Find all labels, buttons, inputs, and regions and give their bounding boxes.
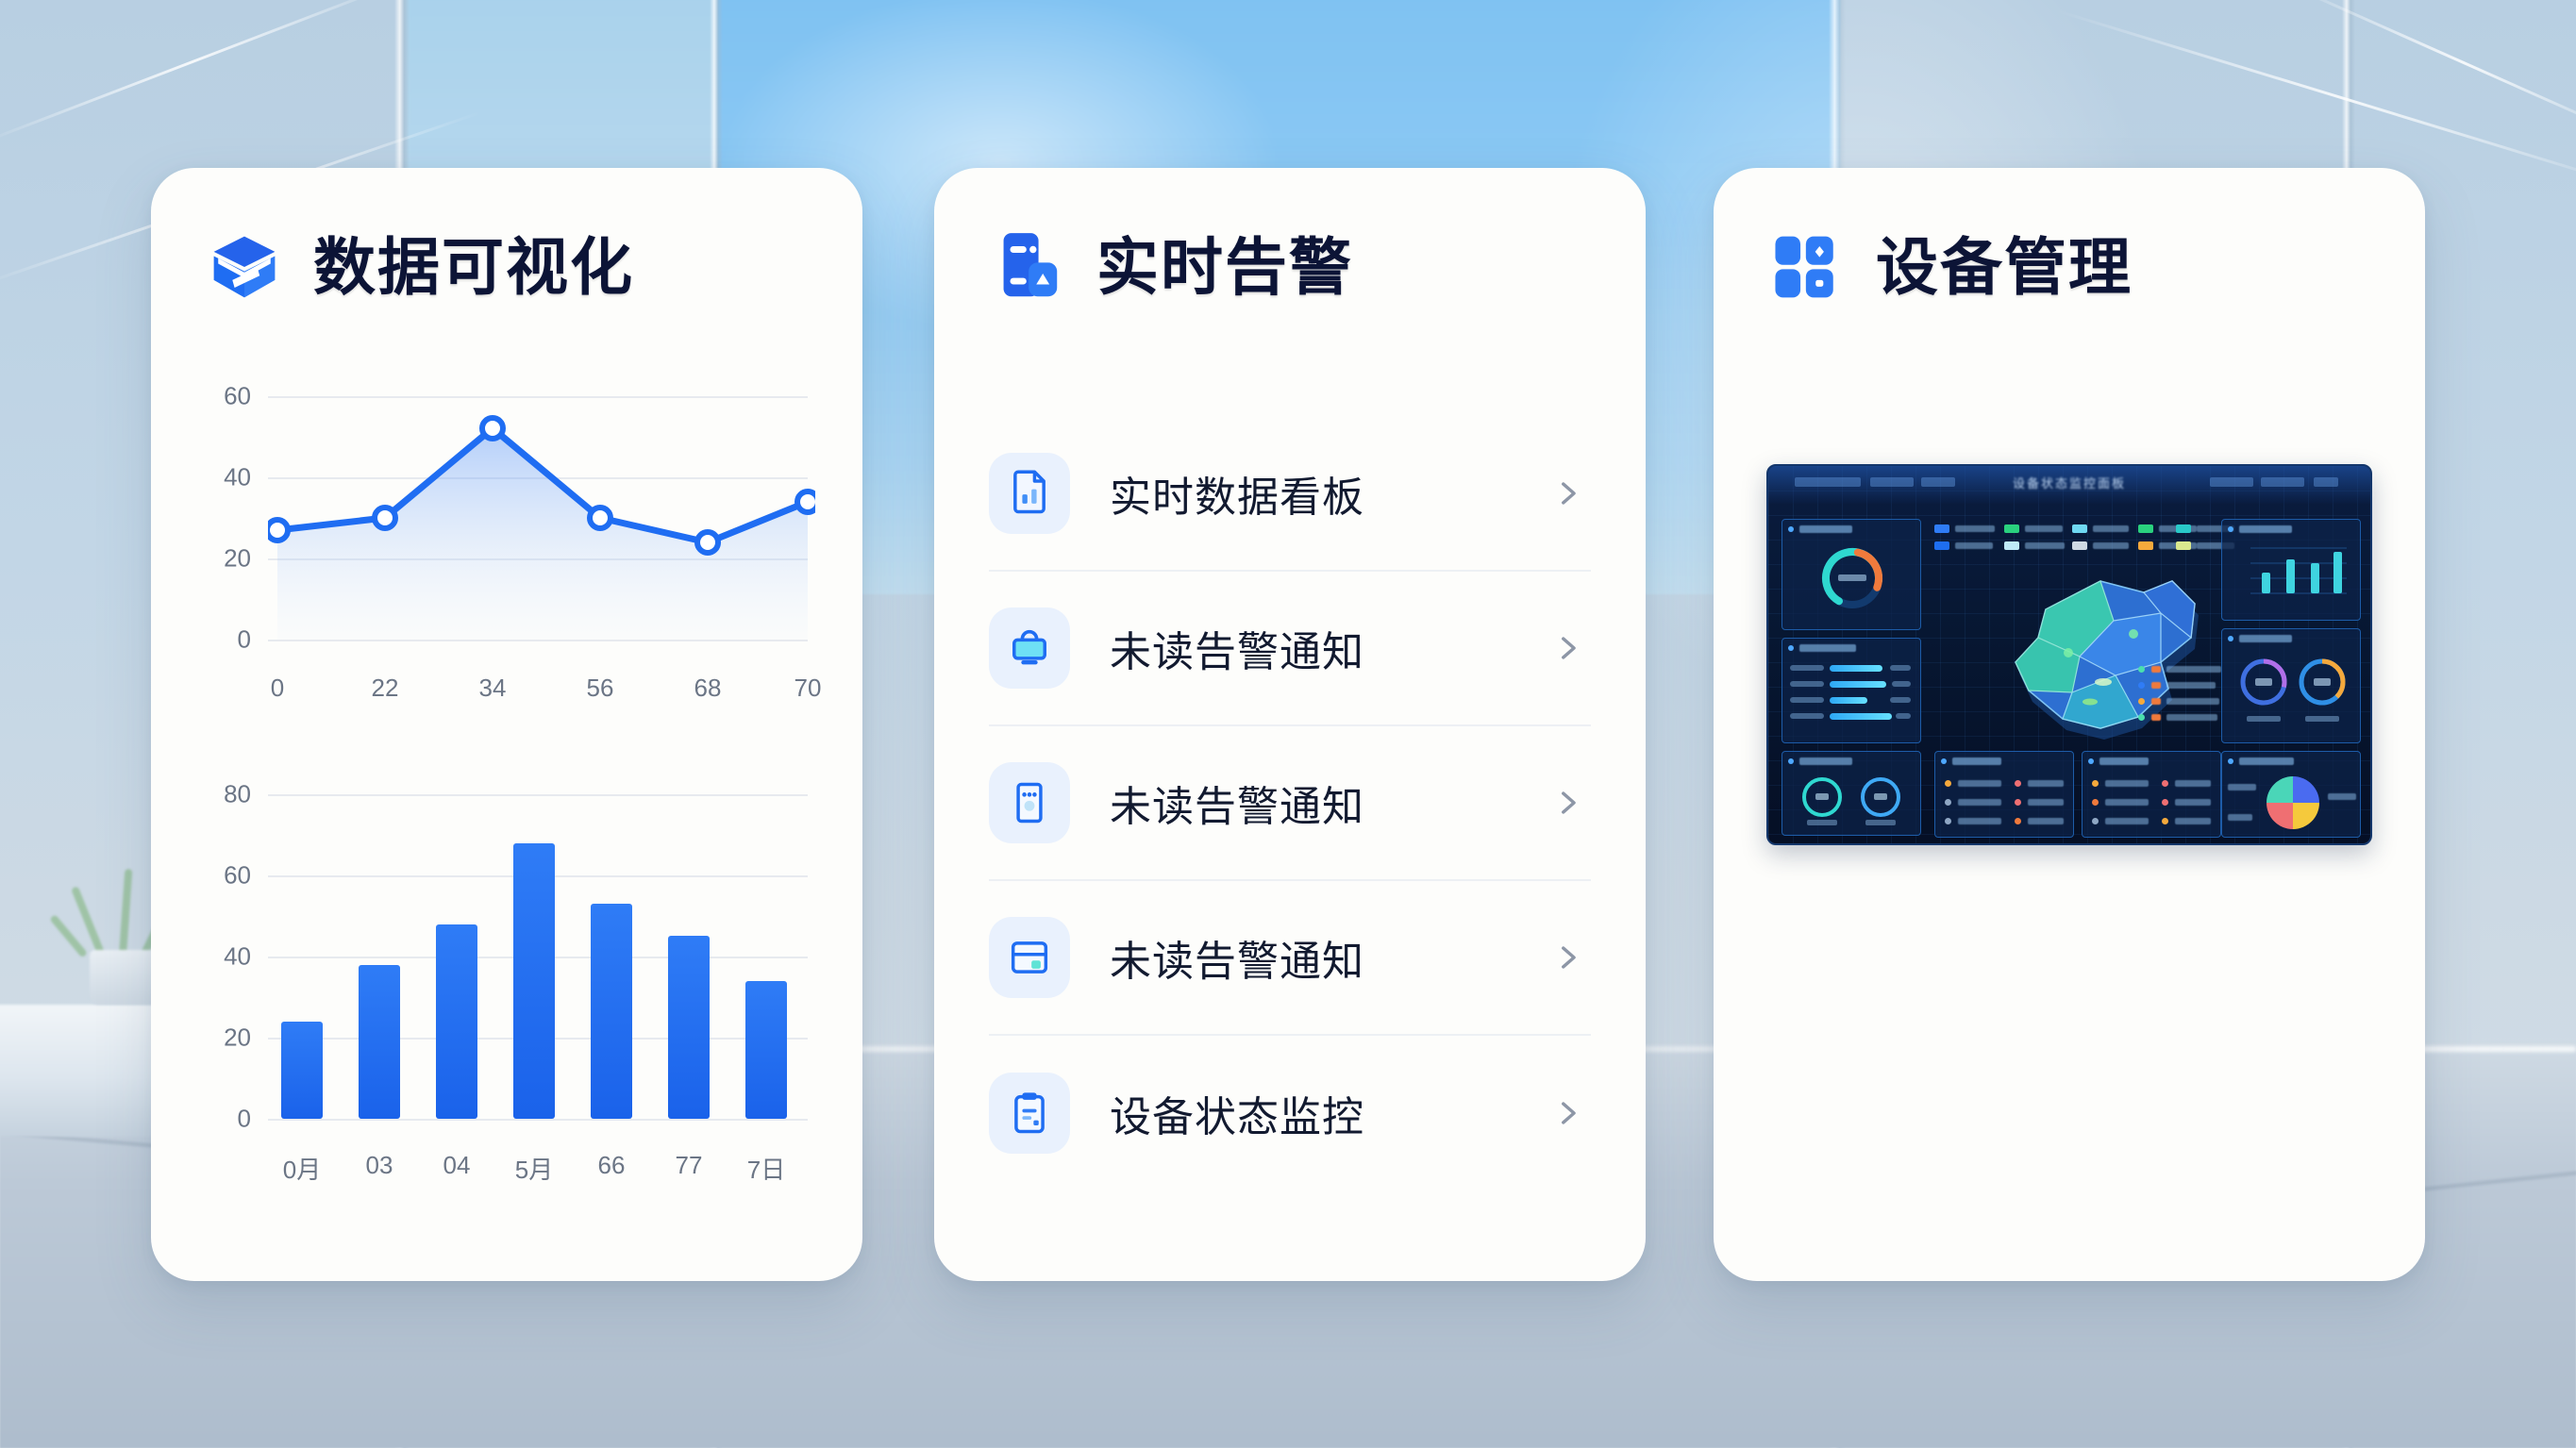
page-title: 设备管理 <box>1876 236 2133 298</box>
device-preview-container: 设备状态监控面板 <box>1714 302 2425 845</box>
card-header: 设备管理 <box>1714 168 2425 302</box>
line-area-chart: 60 40 20 0 <box>192 374 821 751</box>
dashboard-title: 设备状态监控面板 <box>2013 474 2126 491</box>
panel-alert-list-1 <box>1934 751 2074 838</box>
clipboard-list-icon <box>989 1073 1070 1154</box>
device-dashboard-preview[interactable]: 设备状态监控面板 <box>1766 464 2372 845</box>
bar-y-tick-60: 60 <box>192 861 251 890</box>
card-header: 实时告警 <box>934 168 1646 302</box>
card-realtime-alert: 实时告警 实时数据看板 <box>934 168 1646 1281</box>
bar-chart: 80 60 40 20 0 <box>192 777 821 1183</box>
bar-x-tick-3: 5月 <box>515 1151 553 1186</box>
bar-x-tick-1: 03 <box>366 1151 393 1180</box>
list-item[interactable]: 未读告警通知 <box>989 726 1591 881</box>
y-tick-40: 40 <box>192 463 251 492</box>
page-title: 数据可视化 <box>313 236 634 298</box>
bar-x-tick-6: 7日 <box>747 1151 785 1186</box>
card-device-management: 设备管理 设备状态监控面板 <box>1714 168 2425 1281</box>
list-item-label: 未读告警通知 <box>1110 773 1551 833</box>
panel-bar-chart <box>2221 519 2361 621</box>
panel-ring-pair <box>2221 628 2361 743</box>
y-tick-60: 60 <box>192 382 251 411</box>
bar-y-tick-80: 80 <box>192 780 251 809</box>
list-item-label: 设备状态监控 <box>1110 1083 1551 1143</box>
list-item[interactable]: 未读告警通知 <box>989 572 1591 726</box>
x-tick-0: 0 <box>271 674 284 703</box>
chevron-right-icon[interactable] <box>1551 632 1583 664</box>
list-item-label: 未读告警通知 <box>1110 927 1551 988</box>
grid-blocks-icon <box>1772 232 1842 302</box>
document-chart-icon <box>989 453 1070 534</box>
page-title: 实时告警 <box>1096 236 1353 298</box>
dashboard-legend <box>1934 524 2200 557</box>
panel-pie-chart <box>2221 751 2361 838</box>
device-dots-icon <box>989 762 1070 843</box>
y-tick-20: 20 <box>192 544 251 574</box>
bar-x-tick-4: 66 <box>598 1151 626 1180</box>
x-tick-3: 56 <box>587 674 614 703</box>
chevron-right-icon[interactable] <box>1551 477 1583 509</box>
chevron-right-icon[interactable] <box>1551 1097 1583 1129</box>
list-item-label: 实时数据看板 <box>1110 463 1551 524</box>
bar-x-tick-0: 0月 <box>283 1151 321 1186</box>
card-data-visualization: 数据可视化 60 40 20 0 <box>151 168 862 1281</box>
alert-list: 实时数据看板 未读告警通知 <box>934 302 1646 1190</box>
layers-stack-icon <box>209 232 279 302</box>
bar-plot <box>268 794 815 1121</box>
list-item[interactable]: 未读告警通知 <box>989 881 1591 1036</box>
x-tick-4: 68 <box>694 674 722 703</box>
chevron-right-icon[interactable] <box>1551 941 1583 974</box>
bar-y-tick-40: 40 <box>192 942 251 972</box>
x-tick-5: 70 <box>795 674 822 703</box>
server-alert-icon <box>993 232 1062 302</box>
panel-ranking <box>1781 638 1921 743</box>
y-tick-0: 0 <box>192 625 251 655</box>
bar-y-tick-0: 0 <box>192 1105 251 1134</box>
panel-alert-list-2 <box>2082 751 2221 838</box>
bar-x-tick-5: 77 <box>676 1151 703 1180</box>
bar-x-tick-2: 04 <box>443 1151 471 1180</box>
charts-container: 60 40 20 0 <box>151 302 862 1183</box>
card-header: 数据可视化 <box>151 168 862 302</box>
list-item[interactable]: 设备状态监控 <box>989 1036 1591 1190</box>
panel-dual-gauge <box>1781 751 1921 836</box>
list-item-label: 未读告警通知 <box>1110 618 1551 678</box>
bar-y-tick-20: 20 <box>192 1024 251 1053</box>
x-tick-1: 22 <box>372 674 399 703</box>
panel-gauge <box>1781 519 1921 630</box>
chevron-right-icon[interactable] <box>1551 787 1583 819</box>
window-panel-icon <box>989 917 1070 998</box>
x-tick-2: 34 <box>479 674 507 703</box>
briefcase-lock-icon <box>989 607 1070 689</box>
list-item[interactable]: 实时数据看板 <box>989 417 1591 572</box>
line-plot <box>268 396 815 641</box>
